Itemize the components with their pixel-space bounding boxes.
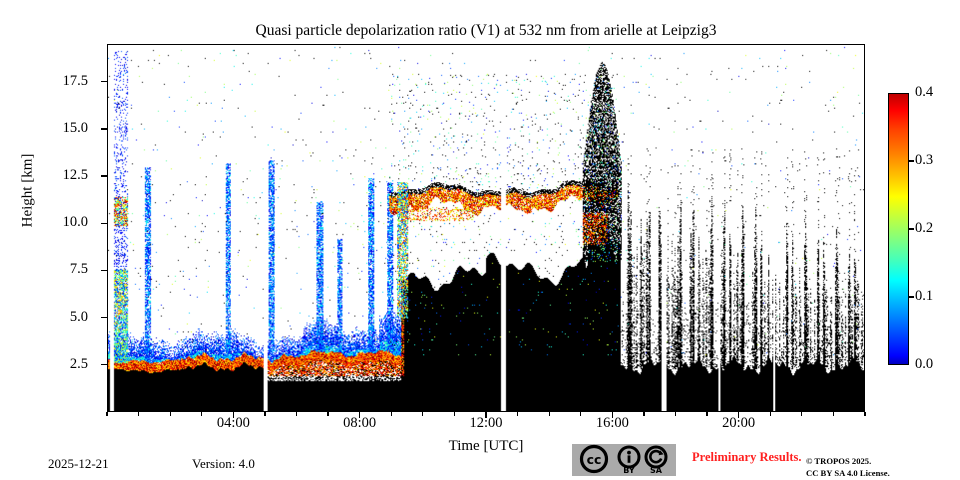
- plot-area: [107, 44, 865, 412]
- y-tick-label: 10.0: [28, 215, 88, 230]
- x-tick-mark-minor: [864, 412, 865, 416]
- preliminary-results-note: Preliminary Results.: [692, 450, 802, 464]
- x-tick-mark-minor: [264, 412, 265, 416]
- x-tick-label: 16:00: [577, 416, 647, 431]
- x-tick-mark-minor: [106, 412, 107, 416]
- y-tick-label: 15.0: [28, 121, 88, 136]
- x-tick-label: 12:00: [451, 416, 521, 431]
- colorbar-tick-label: 0.0: [915, 357, 933, 372]
- y-tick-mark: [101, 317, 107, 318]
- colorbar-tick-mark: [909, 296, 914, 297]
- x-tick-mark-minor: [170, 412, 171, 416]
- y-tick-label: 7.5: [28, 262, 88, 277]
- heatmap-data-canvas: [108, 45, 864, 411]
- colorbar-tick-label: 0.1: [915, 289, 933, 304]
- colorbar-tick-mark: [909, 160, 914, 161]
- x-tick-mark-minor: [580, 412, 581, 416]
- y-tick-label: 2.5: [28, 357, 88, 372]
- y-tick-label: 5.0: [28, 310, 88, 325]
- copyright-note: © TROPOS 2025. CC BY SA 4.0 License.: [806, 456, 956, 479]
- copyright-line-1: © TROPOS 2025.: [806, 456, 956, 468]
- colorbar-tick-label: 0.2: [915, 221, 933, 236]
- x-tick-mark-minor: [422, 412, 423, 416]
- x-tick-mark-minor: [549, 412, 550, 416]
- x-tick-label: 08:00: [325, 416, 395, 431]
- colorbar-tick-label: 0.3: [915, 153, 933, 168]
- y-tick-label: 12.5: [28, 168, 88, 183]
- x-tick-mark-minor: [454, 412, 455, 416]
- page-title: Quasi particle depolarization ratio (V1)…: [107, 22, 865, 40]
- colorbar-tick-label: 0.4: [915, 85, 933, 100]
- y-tick-label: 17.5: [28, 74, 88, 89]
- x-tick-mark-minor: [296, 412, 297, 416]
- copyright-line-2: CC BY SA 4.0 License.: [806, 468, 956, 480]
- x-tick-mark-minor: [801, 412, 802, 416]
- x-tick-mark-minor: [706, 412, 707, 416]
- y-tick-mark: [101, 270, 107, 271]
- x-tick-mark-minor: [833, 412, 834, 416]
- version-label: Version: 4.0: [192, 456, 255, 472]
- x-tick-mark-minor: [517, 412, 518, 416]
- x-tick-label: 04:00: [198, 416, 268, 431]
- lidar-quicklook-figure: Quasi particle depolarization ratio (V1)…: [0, 0, 960, 480]
- cc-by-sa-license-icon[interactable]: cc BY SA: [572, 444, 676, 476]
- x-tick-mark-minor: [391, 412, 392, 416]
- svg-text:SA: SA: [650, 466, 663, 475]
- y-tick-mark: [101, 128, 107, 129]
- x-tick-mark-minor: [201, 412, 202, 416]
- y-tick-mark: [101, 81, 107, 82]
- svg-text:cc: cc: [587, 452, 602, 467]
- x-tick-mark-minor: [675, 412, 676, 416]
- x-tick-mark-minor: [643, 412, 644, 416]
- x-tick-mark-minor: [770, 412, 771, 416]
- colorbar-tick-mark: [909, 228, 914, 229]
- x-tick-mark-minor: [138, 412, 139, 416]
- svg-text:BY: BY: [623, 466, 635, 475]
- y-tick-mark: [101, 223, 107, 224]
- measurement-date: 2025-12-21: [48, 456, 109, 472]
- x-tick-mark-minor: [327, 412, 328, 416]
- y-tick-mark: [101, 175, 107, 176]
- x-tick-label: 20:00: [704, 416, 774, 431]
- y-tick-mark: [101, 364, 107, 365]
- colorbar: [888, 93, 909, 365]
